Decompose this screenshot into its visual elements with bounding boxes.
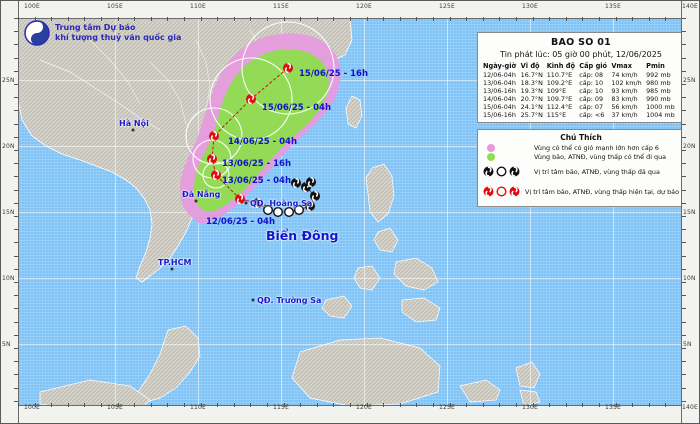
axis-tick (300, 17, 301, 21)
yin-yang-logo-icon (24, 20, 50, 46)
axis-tick (217, 17, 218, 21)
forecast-col-1: Vĩ độ (521, 62, 547, 71)
axis-tick (267, 403, 268, 407)
axis-tick (14, 242, 18, 243)
axis-tick (682, 269, 686, 270)
axis-tick (466, 403, 467, 407)
axis-tick (167, 403, 168, 407)
axis-tick (367, 17, 368, 21)
axis-tick (682, 44, 686, 45)
axis-tick (35, 403, 36, 407)
axis-tick (383, 17, 384, 21)
lon-tick-label: 115E (273, 404, 289, 411)
forecast-table: Ngày-giờVĩ độKinh độCấp gióVmaxPmin 12/0… (483, 62, 679, 119)
org-line-1: Trung tâm Dự báo (55, 23, 181, 33)
axis-band-bottom (0, 405, 700, 424)
lat-tick-label: 5N (683, 341, 692, 348)
axis-tick (333, 17, 334, 21)
lon-tick-label: 105E (107, 3, 123, 10)
axis-tick (682, 335, 686, 336)
axis-tick (549, 17, 550, 21)
axis-tick (566, 17, 567, 21)
axis-tick (151, 403, 152, 407)
lon-tick-label: 120E (356, 404, 372, 411)
axis-tick (14, 84, 18, 85)
table-row: 15/06-16h25.7°N115°Ecấp: <637 km/h1004 m… (483, 111, 679, 119)
axis-tick (267, 17, 268, 21)
legend-item-label: Vùng có thể có gió mạnh lớn hơn cấp 6 (534, 144, 659, 152)
axis-tick (14, 335, 18, 336)
axis-tick (516, 17, 517, 21)
axis-tick (416, 17, 417, 21)
axis-tick (84, 17, 85, 21)
axis-tick (416, 403, 417, 407)
axis-tick (483, 403, 484, 407)
axis-tick (682, 374, 686, 375)
forecast-col-0: Ngày-giờ (483, 62, 521, 71)
axis-tick (616, 17, 617, 21)
axis-tick (682, 84, 686, 85)
axis-tick (14, 58, 18, 59)
axis-tick (14, 229, 18, 230)
axis-tick (682, 282, 686, 283)
track-time-label: 13/06/25 - 16h (222, 159, 291, 169)
track-time-label: 13/06/25 - 04h (222, 176, 291, 186)
lat-tick-label: 10N (2, 275, 15, 282)
lat-tick-label: 5N (2, 341, 11, 348)
axis-tick (649, 403, 650, 407)
forecast-position-marker[interactable] (207, 154, 218, 165)
forecast-position-marker[interactable] (246, 94, 257, 105)
forecast-col-3: Cấp gió (579, 62, 611, 71)
axis-tick (682, 18, 686, 19)
lon-tick-label: 125E (439, 3, 455, 10)
axis-tick (682, 71, 686, 72)
axis-tick (14, 18, 18, 19)
legend-item: Vị trí tâm bão, ATNĐ, vùng thấp hiện tại… (483, 182, 679, 201)
axis-tick (383, 403, 384, 407)
axis-tick (665, 17, 666, 21)
axis-tick (167, 17, 168, 21)
city-dot (132, 129, 135, 132)
lat-tick-label: 20N (2, 143, 15, 150)
axis-tick (682, 150, 686, 151)
island-dot (252, 299, 255, 302)
axis-tick (533, 17, 534, 21)
axis-tick (68, 17, 69, 21)
lon-tick-label: 110E (190, 3, 206, 10)
axis-tick (632, 403, 633, 407)
axis-tick (68, 403, 69, 407)
pink-circle-swatch (483, 144, 529, 152)
axis-tick (682, 216, 686, 217)
axis-tick (14, 256, 18, 257)
forecast-table-header: Ngày-giờVĩ độKinh độCấp gióVmaxPmin (483, 62, 679, 71)
axis-tick (682, 401, 686, 402)
legend-item-label: Vị trí tâm bão, ATNĐ, vùng thấp hiện tại… (525, 188, 679, 196)
city-dot (171, 268, 174, 271)
forecast-position-marker[interactable] (211, 170, 222, 181)
axis-tick (400, 17, 401, 21)
axis-tick (566, 403, 567, 407)
axis-tick (682, 124, 686, 125)
axis-tick (682, 31, 686, 32)
lat-tick-label: 20N (683, 143, 696, 150)
table-row: 12/06-04h16.7°N110.7°Ecấp: 0874 km/h992 … (483, 71, 679, 79)
axis-tick (599, 403, 600, 407)
axis-tick (14, 163, 18, 164)
organization-header: Trung tâm Dự báo khí tượng thuỷ văn quốc… (24, 20, 181, 46)
axis-tick (18, 403, 19, 407)
axis-tick (665, 403, 666, 407)
axis-tick (14, 295, 18, 296)
axis-tick (682, 361, 686, 362)
axis-tick (234, 403, 235, 407)
axis-tick (151, 17, 152, 21)
black-storm-symbols (483, 162, 529, 181)
lon-tick-label: 140E (682, 3, 698, 10)
storm-title: BAO SO 01 (483, 37, 679, 48)
axis-tick (284, 403, 285, 407)
track-time-label: 14/06/25 - 04h (228, 137, 297, 147)
axis-tick (582, 17, 583, 21)
lon-tick-label: 115E (273, 3, 289, 10)
axis-tick (101, 17, 102, 21)
axis-tick (14, 308, 18, 309)
axis-tick (682, 242, 686, 243)
sea-name-label: Biển Đông (266, 228, 338, 243)
lon-tick-label: 130E (522, 404, 538, 411)
table-row: 15/06-04h24.1°N112.4°Ecấp: 0756 km/h1000… (483, 103, 679, 111)
axis-tick (217, 403, 218, 407)
axis-tick (350, 403, 351, 407)
axis-tick (250, 17, 251, 21)
axis-tick (682, 97, 686, 98)
axis-tick (14, 282, 18, 283)
axis-tick (14, 176, 18, 177)
track-time-label: 15/06/25 - 16h (299, 69, 368, 79)
org-line-2: khí tượng thuỷ văn quốc gia (55, 33, 181, 43)
forecast-table-body: 12/06-04h16.7°N110.7°Ecấp: 0874 km/h992 … (483, 71, 679, 119)
axis-tick (616, 403, 617, 407)
lon-tick-label: 110E (190, 404, 206, 411)
axis-tick (14, 374, 18, 375)
axis-tick (14, 71, 18, 72)
axis-tick (466, 17, 467, 21)
track-time-label: 15/06/25 - 04h (262, 103, 331, 113)
table-row: 14/06-04h20.7°N109.7°Ecấp: 0983 km/h990 … (483, 95, 679, 103)
axis-tick (201, 17, 202, 21)
forecast-position-marker[interactable] (209, 131, 220, 142)
axis-tick (350, 17, 351, 21)
axis-tick (483, 17, 484, 21)
axis-tick (234, 17, 235, 21)
legend-rows: Vùng có thể có gió mạnh lớn hơn cấp 6Vùn… (483, 144, 679, 201)
axis-tick (317, 403, 318, 407)
legend-panel: Chú Thích Vùng có thể có gió mạnh lớn hơ… (477, 129, 685, 207)
axis-tick (516, 403, 517, 407)
axis-tick (14, 269, 18, 270)
axis-tick (201, 403, 202, 407)
lat-tick-label: 15N (683, 209, 696, 216)
axis-tick (35, 17, 36, 21)
lon-tick-label: 120E (356, 3, 372, 10)
table-row: 13/06-04h18.3°N109.2°Ecấp: 10102 km/h980… (483, 79, 679, 87)
lat-tick-label: 25N (683, 77, 696, 84)
axis-tick (682, 229, 686, 230)
axis-tick (14, 361, 18, 362)
forecast-col-5: Pmin (646, 62, 679, 71)
axis-tick (682, 203, 686, 204)
axis-tick (682, 163, 686, 164)
axis-tick (14, 124, 18, 125)
axis-tick (184, 403, 185, 407)
axis-tick (682, 295, 686, 296)
lat-tick-label: 25N (2, 77, 15, 84)
lon-tick-label: 125E (439, 404, 455, 411)
axis-tick (433, 17, 434, 21)
axis-tick (450, 403, 451, 407)
axis-tick (682, 176, 686, 177)
table-row: 13/06-16h19.3°N109°Ecấp: 1093 km/h985 mb (483, 87, 679, 95)
lon-tick-label: 135E (605, 404, 621, 411)
city-dot (195, 200, 198, 203)
legend-item-label: Vị trí tâm bão, ATNĐ, vùng thấp đã qua (534, 168, 660, 176)
axis-tick (14, 44, 18, 45)
axis-tick (14, 401, 18, 402)
axis-tick (682, 190, 686, 191)
legend-item: Vùng có thể có gió mạnh lớn hơn cấp 6 (483, 144, 679, 152)
track-time-label: 12/06/25 - 04h (206, 217, 275, 227)
island-dot (245, 202, 248, 205)
axis-tick (682, 308, 686, 309)
axis-tick (682, 58, 686, 59)
axis-tick (51, 17, 52, 21)
axis-tick (599, 17, 600, 21)
axis-tick (14, 322, 18, 323)
organization-name: Trung tâm Dự báo khí tượng thuỷ văn quốc… (55, 23, 181, 43)
legend-item-label: Vùng bão, ATNĐ, vùng thấp có thể đi qua (534, 153, 666, 161)
axis-tick (284, 17, 285, 21)
axis-tick (14, 216, 18, 217)
axis-tick (14, 388, 18, 389)
axis-tick (184, 17, 185, 21)
axis-tick (14, 137, 18, 138)
axis-tick (18, 17, 19, 21)
legend-item: Vị trí tâm bão, ATNĐ, vùng thấp đã qua (483, 162, 679, 181)
axis-tick (14, 190, 18, 191)
axis-tick (533, 403, 534, 407)
lon-tick-label: 100E (24, 404, 40, 411)
forecast-col-4: Vmax (611, 62, 646, 71)
island-label: QĐ. Trường Sa (257, 296, 321, 305)
axis-tick (84, 403, 85, 407)
axis-tick (14, 97, 18, 98)
axis-tick (649, 17, 650, 21)
city-label: Đà Nẵng (182, 190, 220, 199)
red-storm-symbols (483, 182, 520, 201)
axis-tick (134, 403, 135, 407)
axis-tick (582, 403, 583, 407)
axis-tick (101, 403, 102, 407)
lon-tick-label: 130E (522, 3, 538, 10)
legend-item: Vùng bão, ATNĐ, vùng thấp có thể đi qua (483, 153, 679, 161)
axis-tick (682, 322, 686, 323)
axis-tick (134, 17, 135, 21)
past-position-marker (306, 177, 317, 188)
island-label: QĐ. Hoàng Sa (250, 199, 312, 208)
lon-tick-label: 105E (107, 404, 123, 411)
axis-tick (14, 203, 18, 204)
axis-tick (14, 31, 18, 32)
axis-tick (118, 17, 119, 21)
forecast-col-2: Kinh độ (547, 62, 580, 71)
city-label: Hà Nội (119, 119, 149, 128)
axis-tick (317, 17, 318, 21)
axis-tick (499, 17, 500, 21)
axis-tick (300, 403, 301, 407)
forecast-position-marker[interactable] (283, 63, 294, 74)
axis-tick (118, 403, 119, 407)
lon-tick-label: 100E (24, 3, 40, 10)
city-label: TP.HCM (158, 258, 191, 267)
green-circle-swatch (483, 153, 529, 161)
axis-tick (14, 110, 18, 111)
axis-tick (433, 403, 434, 407)
legend-title: Chú Thích (483, 133, 679, 142)
axis-tick (682, 388, 686, 389)
typhoon-forecast-map: Hà NộiĐà NẵngTP.HCMQĐ. Hoàng SaQĐ. Trườn… (0, 0, 700, 424)
axis-tick (632, 17, 633, 21)
lon-tick-label: 140E (682, 404, 698, 411)
axis-tick (499, 403, 500, 407)
past-position-marker (291, 178, 302, 189)
axis-tick (682, 110, 686, 111)
axis-tick (250, 403, 251, 407)
axis-tick (682, 137, 686, 138)
axis-tick (14, 150, 18, 151)
axis-tick (400, 403, 401, 407)
lat-tick-label: 10N (683, 275, 696, 282)
axis-tick (682, 348, 686, 349)
axis-tick (367, 403, 368, 407)
axis-tick (51, 403, 52, 407)
lat-tick-label: 15N (2, 209, 15, 216)
bulletin-time: Tin phát lúc: 05 giờ 00 phút, 12/06/2025 (483, 50, 679, 59)
axis-tick (549, 403, 550, 407)
axis-tick (682, 256, 686, 257)
storm-info-panel: BAO SO 01 Tin phát lúc: 05 giờ 00 phút, … (477, 32, 685, 123)
axis-tick (14, 348, 18, 349)
past-position-marker (273, 207, 284, 218)
lon-tick-label: 135E (605, 3, 621, 10)
axis-tick (333, 403, 334, 407)
axis-tick (450, 17, 451, 21)
